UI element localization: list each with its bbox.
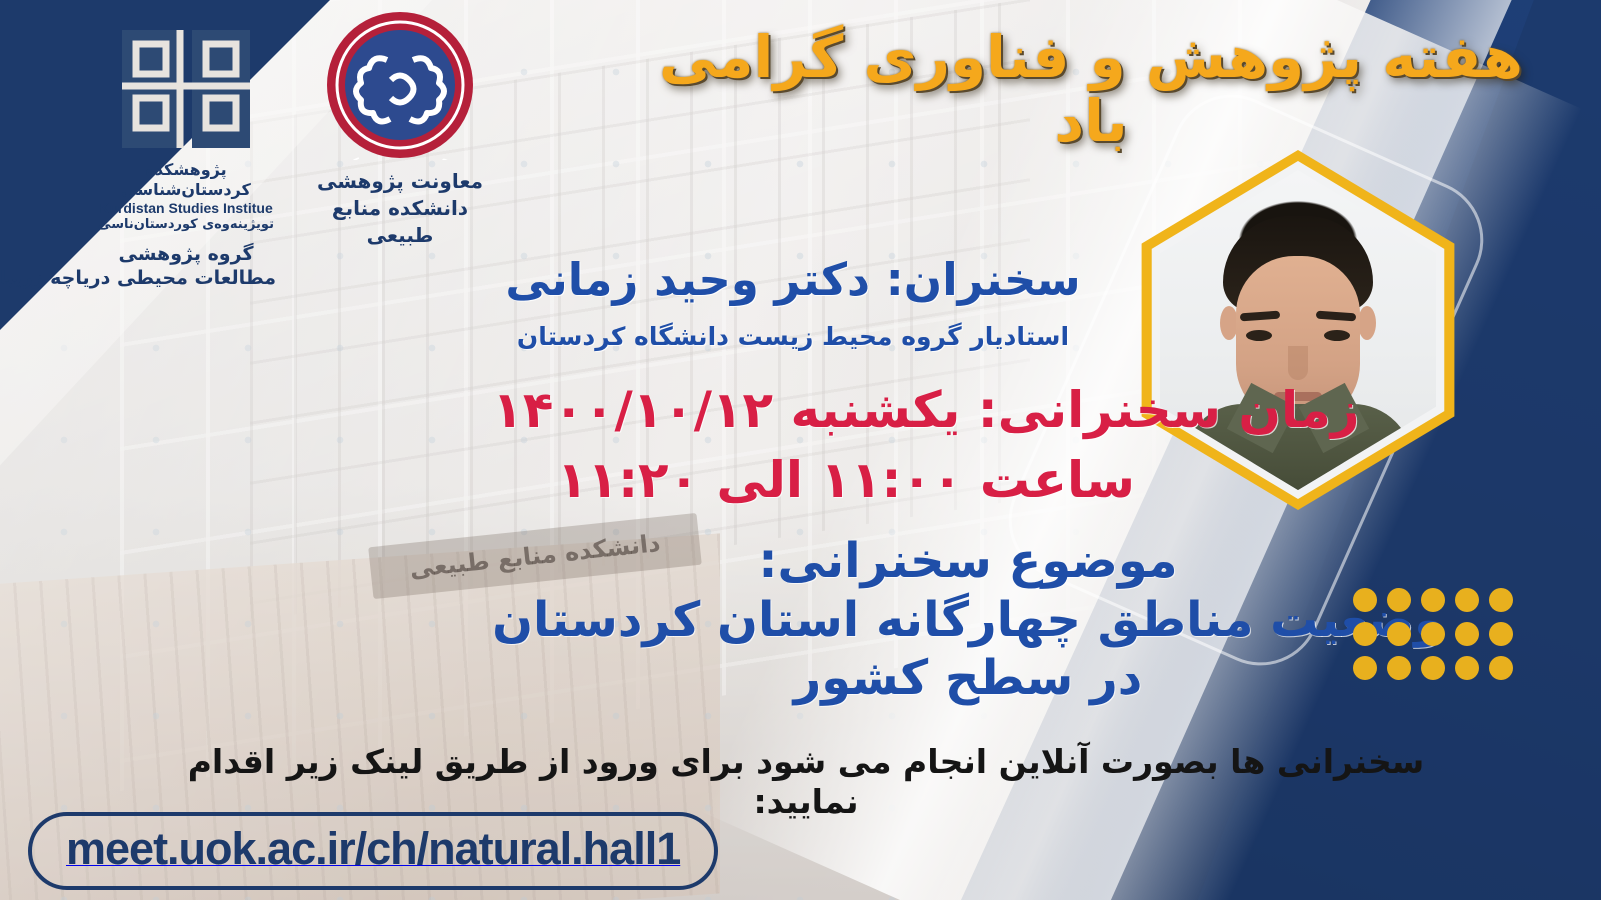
dot [1455, 588, 1479, 612]
dot [1455, 656, 1479, 680]
dot [1353, 622, 1377, 646]
page-title: هفته پژوهش و فناوری گرامی باد [621, 26, 1561, 154]
lecture-topic: موضوع سخنرانی: وضعیت مناطق چهارگانه استا… [483, 532, 1453, 708]
meeting-link-button[interactable]: meet.uok.ac.ir/ch/natural.hall1 [28, 812, 718, 890]
dot [1387, 622, 1411, 646]
ksi-name-fa: پژوهشکده کردستان‌شناسی [96, 160, 276, 200]
portrait-nose [1288, 346, 1308, 380]
dot [1489, 622, 1513, 646]
meeting-link-text: meet.uok.ac.ir/ch/natural.hall1 [66, 823, 680, 874]
uok-seal-icon: دانشگاه کردستان University of Kurdistan [325, 145, 475, 164]
speaker-name: سخنران: دکتر وحید زمانی [483, 255, 1103, 305]
topic-line-3: در سطح کشور [483, 649, 1453, 708]
dot [1387, 588, 1411, 612]
ksi-name-ku: تویژینەوەی کوردستان‌ناسی [96, 217, 276, 234]
dot [1421, 588, 1445, 612]
gold-dot-grid-decoration [1343, 588, 1513, 690]
online-instructions: سخنرانی ها بصورت آنلاین انجام می شود برا… [161, 742, 1451, 821]
kurdistan-studies-institute-logo: پژوهشکده کردستان‌شناسی Kurdistan Studies… [96, 24, 276, 291]
portrait-eye-right [1324, 330, 1350, 341]
ksi-group-line-1: گروه پژوهشی [96, 242, 276, 267]
ksi-emblem-icon [96, 24, 276, 154]
ksi-group-line-2: مطالعات محیطی دریاچه زریبار [96, 266, 276, 291]
university-of-kurdistan-logo: دانشگاه کردستان University of Kurdistan … [300, 10, 500, 249]
dot [1387, 656, 1411, 680]
speaker-affiliation: استادیار گروه محیط زیست دانشگاه کردستان [483, 322, 1103, 352]
portrait-eye-left [1246, 330, 1272, 341]
dot [1421, 656, 1445, 680]
dot [1455, 622, 1479, 646]
dot [1421, 622, 1445, 646]
dot [1489, 656, 1513, 680]
dot [1489, 588, 1513, 612]
topic-label: موضوع سخنرانی: [483, 532, 1453, 591]
topic-line-2: وضعیت مناطق چهارگانه استان کردستان [483, 591, 1453, 650]
lecture-date: زمان سخنرانی: یکشنبه ۱۴۰۰/۱۰/۱۲ [481, 382, 1371, 438]
uok-caption-line-1: معاونت پژوهشی [300, 168, 500, 195]
dot [1353, 656, 1377, 680]
ksi-name-en: Kurdistan Studies Institue [96, 200, 276, 217]
poster-canvas: دانشکده منابع طبیعی [0, 0, 1601, 900]
portrait-ear-right [1358, 306, 1376, 340]
uok-caption-line-2: دانشکده منابع طبیعی [300, 195, 500, 249]
lecture-time: ساعت ۱۱:۰۰ الی ۱۱:۲۰ [481, 452, 1211, 508]
dot [1353, 588, 1377, 612]
